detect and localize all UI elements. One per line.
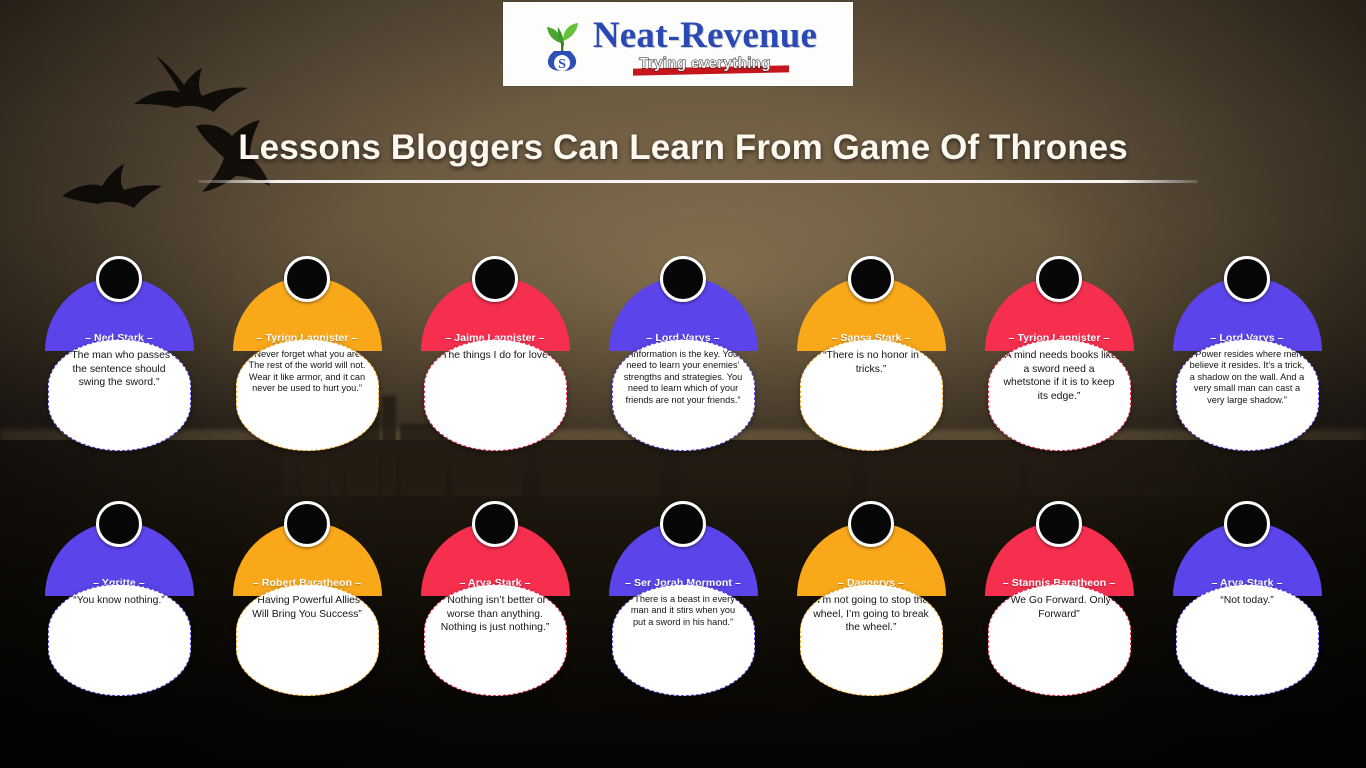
quote-bubble: “There is a beast in every man and it st…: [612, 584, 755, 696]
quote-bubble: “There is no honor in tricks.”: [800, 339, 943, 451]
quote-card[interactable]: – Tyrion Lannister –“Never forget what y…: [233, 256, 382, 451]
quote-bubble: “Power resides where men believe it resi…: [1176, 339, 1319, 451]
avatar: [848, 256, 894, 302]
logo-name: Neat-Revenue: [593, 17, 817, 54]
quote-card[interactable]: – Arya Stark –“Not today.”: [1173, 501, 1322, 696]
avatar: [1224, 256, 1270, 302]
quote-card[interactable]: – Ser Jorah Mormont –“There is a beast i…: [609, 501, 758, 696]
quote-text: “Not today.”: [1220, 594, 1274, 608]
avatar: [1036, 501, 1082, 547]
title-divider: [198, 180, 1198, 183]
quote-bubble: “The man who passes the sentence should …: [48, 339, 191, 451]
avatar: [472, 501, 518, 547]
avatar: [1224, 501, 1270, 547]
quote-bubble: “You know nothing.”: [48, 584, 191, 696]
quote-card[interactable]: – Tyrion Lannister –“A mind needs books …: [985, 256, 1134, 451]
quote-text: “Never forget what you are. The rest of …: [248, 349, 367, 395]
quote-bubble: “I’m not going to stop the wheel, I’m go…: [800, 584, 943, 696]
quote-card-row-1: – Ned Stark –“The man who passes the sen…: [0, 256, 1366, 451]
avatar: [284, 501, 330, 547]
quote-bubble: “Nothing isn’t better or worse than anyt…: [424, 584, 567, 696]
quote-bubble: “Information is the key. You need to lea…: [612, 339, 755, 451]
avatar: [472, 256, 518, 302]
avatar: [284, 256, 330, 302]
logo-tagline: Trying everything: [639, 56, 771, 71]
logo-tagline-wrap: Trying everything: [639, 56, 771, 71]
svg-text:S: S: [558, 57, 566, 72]
quote-text: “I’m not going to stop the wheel, I’m go…: [812, 594, 931, 635]
quote-card[interactable]: – Lord Varys –“Information is the key. Y…: [609, 256, 758, 451]
quote-text: “The man who passes the sentence should …: [60, 349, 179, 390]
avatar: [848, 501, 894, 547]
quote-text: “The things I do for love”: [439, 349, 552, 363]
avatar: [96, 256, 142, 302]
quote-text: “There is no honor in tricks.”: [812, 349, 931, 376]
avatar: [96, 501, 142, 547]
quote-text: “Power resides where men believe it resi…: [1188, 349, 1307, 406]
quote-bubble: “A mind needs books like a sword need a …: [988, 339, 1131, 451]
quote-text: “Having Powerful Allies Will Bring You S…: [248, 594, 367, 621]
quote-text: “Information is the key. You need to lea…: [624, 349, 743, 406]
quote-text: “Nothing isn’t better or worse than anyt…: [436, 594, 555, 635]
quote-card[interactable]: – Stannis Baratheon –“We Go Forward. Onl…: [985, 501, 1134, 696]
page-title: Lessons Bloggers Can Learn From Game Of …: [0, 128, 1366, 168]
avatar: [660, 256, 706, 302]
quote-text: “There is a beast in every man and it st…: [624, 594, 743, 628]
quote-bubble: “Not today.”: [1176, 584, 1319, 696]
avatar: [1036, 256, 1082, 302]
quote-bubble: “The things I do for love”: [424, 339, 567, 451]
quote-text: “You know nothing.”: [73, 594, 164, 608]
quote-card[interactable]: – Robert Baratheon –“Having Powerful All…: [233, 501, 382, 696]
quote-text: “A mind needs books like a sword need a …: [1000, 349, 1119, 403]
quote-bubble: “Having Powerful Allies Will Bring You S…: [236, 584, 379, 696]
quote-bubble: “Never forget what you are. The rest of …: [236, 339, 379, 451]
quote-card[interactable]: – Daenerys –“I’m not going to stop the w…: [797, 501, 946, 696]
money-bag-plant-icon: S: [539, 16, 585, 72]
quote-card[interactable]: – Ygritte –“You know nothing.”: [45, 501, 194, 696]
quote-card[interactable]: – Jaime Lannister –“The things I do for …: [421, 256, 570, 451]
quote-card[interactable]: – Ned Stark –“The man who passes the sen…: [45, 256, 194, 451]
quote-card-row-2: – Ygritte –“You know nothing.”– Robert B…: [0, 501, 1366, 696]
quote-card[interactable]: – Arya Stark –“Nothing isn’t better or w…: [421, 501, 570, 696]
quote-card[interactable]: – Lord Varys –“Power resides where men b…: [1173, 256, 1322, 451]
quote-card[interactable]: – Sansa Stark –“There is no honor in tri…: [797, 256, 946, 451]
quote-bubble: “We Go Forward. Only Forward”: [988, 584, 1131, 696]
quote-text: “We Go Forward. Only Forward”: [1000, 594, 1119, 621]
avatar: [660, 501, 706, 547]
site-logo[interactable]: S Neat-Revenue Trying everything: [503, 2, 853, 86]
